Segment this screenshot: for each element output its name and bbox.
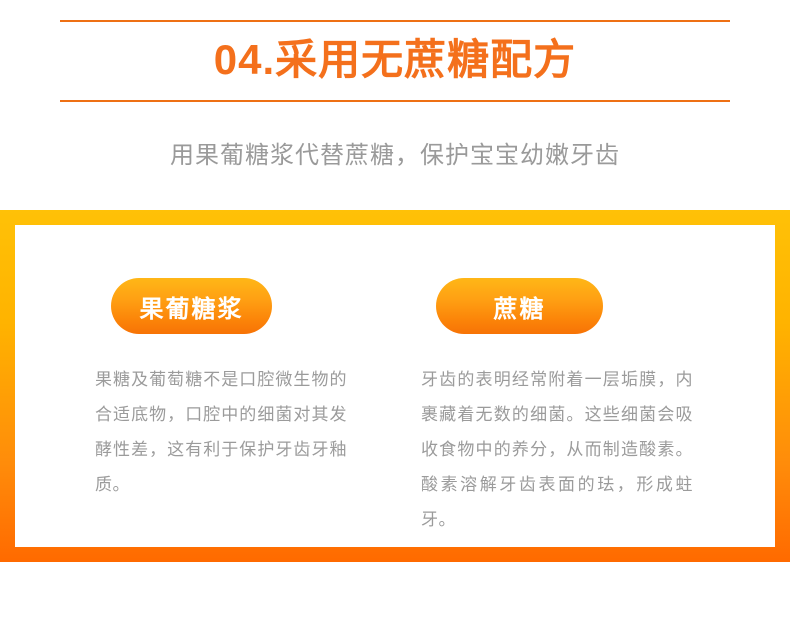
comparison-column-sucrose: 蔗糖 牙齿的表明经常附着一层垢膜，内裹藏着无数的细菌。这些细菌会吸收食物中的养分… xyxy=(395,225,775,547)
section-header: 04.采用无蔗糖配方 用果葡糖浆代替蔗糖，保护宝宝幼嫩牙齿 xyxy=(0,0,790,196)
promo-section: 04.采用无蔗糖配方 用果葡糖浆代替蔗糖，保护宝宝幼嫩牙齿 果葡糖浆 果糖及葡萄… xyxy=(0,0,790,618)
column-heading-pill: 蔗糖 xyxy=(436,278,603,334)
comparison-card-frame: 果葡糖浆 果糖及葡萄糖不是口腔微生物的合适底物，口腔中的细菌对其发酵性差，这有利… xyxy=(0,210,790,562)
header-divider-bottom xyxy=(60,100,730,102)
section-title: 04.采用无蔗糖配方 xyxy=(0,32,790,88)
section-subtitle: 用果葡糖浆代替蔗糖，保护宝宝幼嫩牙齿 xyxy=(0,139,790,173)
column-heading-pill: 果葡糖浆 xyxy=(111,278,272,334)
comparison-columns: 果葡糖浆 果糖及葡萄糖不是口腔微生物的合适底物，口腔中的细菌对其发酵性差，这有利… xyxy=(15,225,775,547)
comparison-card-body: 果葡糖浆 果糖及葡萄糖不是口腔微生物的合适底物，口腔中的细菌对其发酵性差，这有利… xyxy=(15,225,775,547)
header-divider-top xyxy=(60,20,730,22)
column-description: 果糖及葡萄糖不是口腔微生物的合适底物，口腔中的细菌对其发酵性差，这有利于保护牙齿… xyxy=(95,362,347,502)
comparison-column-glucose-syrup: 果葡糖浆 果糖及葡萄糖不是口腔微生物的合适底物，口腔中的细菌对其发酵性差，这有利… xyxy=(15,225,395,547)
column-description: 牙齿的表明经常附着一层垢膜，内裹藏着无数的细菌。这些细菌会吸收食物中的养分，从而… xyxy=(421,362,693,537)
